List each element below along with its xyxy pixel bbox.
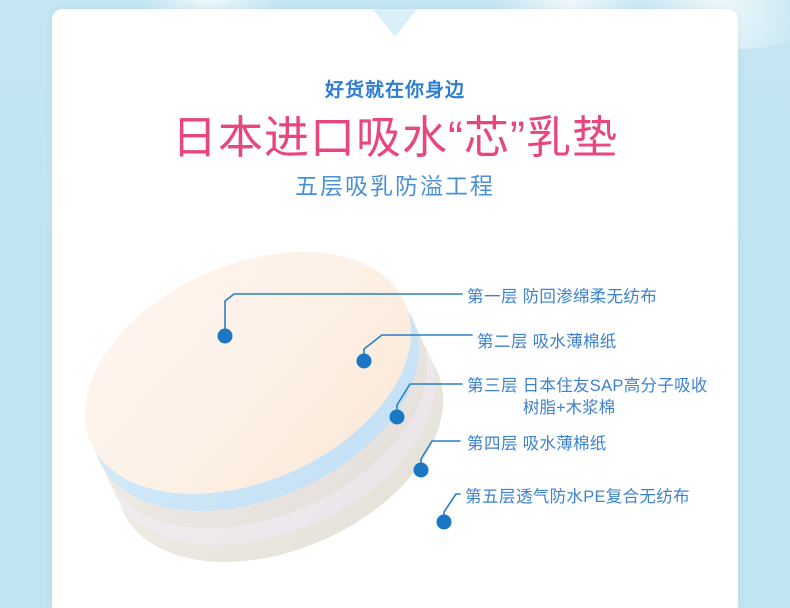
callout-layer-1: 第一层 防回渗绵柔无纺布 (467, 286, 657, 308)
callout-layer-2: 第二层 吸水薄棉纸 (477, 331, 617, 353)
callout-index-3: 第三层 (467, 377, 518, 395)
layer-diagram (52, 9, 738, 608)
layer-marker-dot-1 (218, 329, 233, 344)
callout-text-3: 日本住友SAP高分子吸收 (523, 377, 708, 395)
callout-layer-4: 第四层 吸水薄棉纸 (467, 433, 607, 455)
callout-text-4: 吸水薄棉纸 (523, 435, 607, 453)
layer-marker-dot-5 (437, 515, 452, 530)
layer-marker-dot-3 (390, 410, 405, 425)
page-root: 好货就在你身边 日本进口吸水“芯”乳垫 五层吸乳防溢工程 (0, 0, 790, 608)
callout-text-3-line2: 树脂+木浆棉 (467, 397, 708, 419)
callout-index-4: 第四层 (467, 435, 518, 453)
callout-text-1: 防回渗绵柔无纺布 (523, 288, 657, 306)
callout-index-5: 第五层 (465, 488, 516, 506)
callout-index-2: 第二层 (477, 333, 528, 351)
callout-text-5: 透气防水PE复合无纺布 (516, 488, 690, 506)
callout-text-2: 吸水薄棉纸 (533, 333, 617, 351)
content-card: 好货就在你身边 日本进口吸水“芯”乳垫 五层吸乳防溢工程 (52, 9, 738, 608)
callout-layer-5: 第五层透气防水PE复合无纺布 (465, 486, 690, 508)
layer-marker-dot-4 (414, 463, 429, 478)
callout-layer-3: 第三层 日本住友SAP高分子吸收树脂+木浆棉 (467, 375, 708, 420)
layer-marker-dot-2 (357, 354, 372, 369)
callout-index-1: 第一层 (467, 288, 518, 306)
